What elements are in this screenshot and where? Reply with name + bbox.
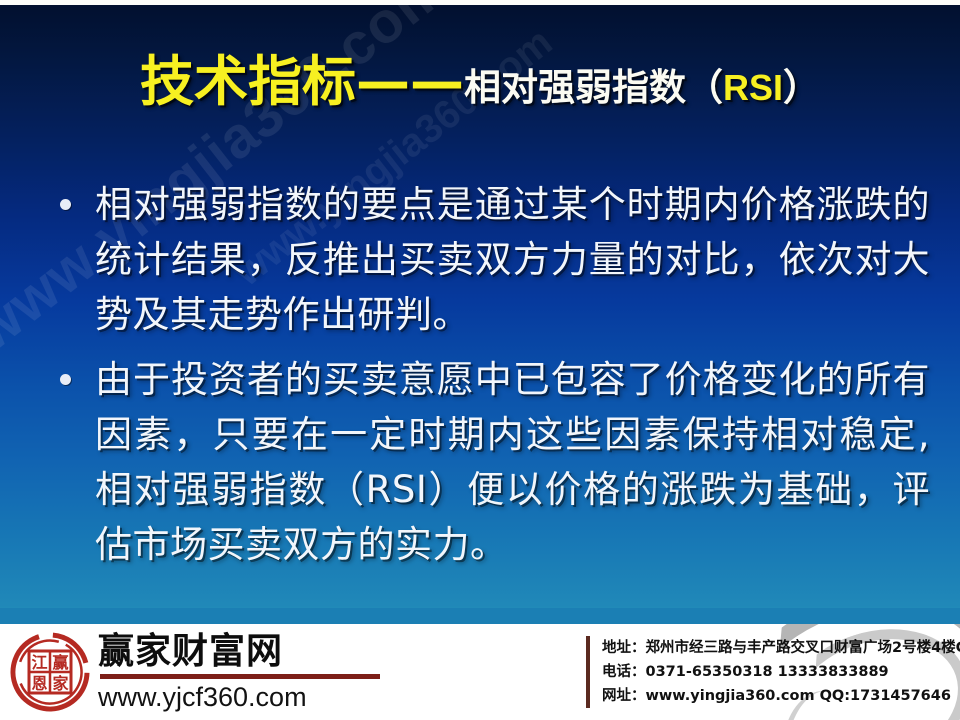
page-title-sub-before: 相对强弱指数（ [464,66,723,109]
page-title: 技术指标——相对强弱指数（RSI） [0,55,960,109]
contact-phone-line: 电话：0371-65350318 13333833889 [602,660,960,684]
company-seal-logo: 江 赢 恩 家 [8,630,92,714]
seal-char-top-left: 江 [31,653,47,672]
bullet-list: 相对强弱指数的要点是通过某个时期内价格涨跌的统计结果，反推出买卖双方力量的对比，… [40,177,930,582]
brand-block: 赢家财富网 www.yjcf360.com [98,632,380,712]
contact-block: 地址：郑州市经三路与丰产路交叉口财富广场2号楼4楼C户 电话：0371-6535… [602,636,960,708]
bullet-dot-icon [60,199,71,210]
bullet-dot-icon [60,374,71,385]
contact-phone-label: 电话： [602,664,646,680]
list-item-text: 相对强弱指数的要点是通过某个时期内价格涨跌的统计结果，反推出买卖双方力量的对比，… [95,183,930,336]
list-item-text: 由于投资者的买卖意愿中已包容了价格变化的所有因素，只要在一定时期内这些因素保持相… [95,358,930,566]
footer: 江 赢 恩 家 赢家财富网 www.yjcf360.com 地址：郑州市经三路与… [0,624,960,720]
contact-phone-value: 0371-65350318 13333833889 [646,664,889,680]
footer-vertical-divider [586,636,590,708]
slide-canvas: www.yingjia360.com www.yingjia360.com 技术… [0,5,960,623]
brand-divider [100,674,380,679]
slide-root: www.yingjia360.com www.yingjia360.com 技术… [0,0,960,720]
footer-accent-bar [0,608,960,624]
brand-url[interactable]: www.yjcf360.com [98,682,380,712]
list-item: 由于投资者的买卖意愿中已包容了价格变化的所有因素，只要在一定时期内这些因素保持相… [40,352,930,572]
contact-website-value[interactable]: www.yingjia360.com QQ:1731457646 [646,688,951,704]
seal-char-bottom-left: 恩 [31,674,47,693]
contact-address-label: 地址： [602,640,646,656]
brand-name: 赢家财富网 [98,632,380,672]
contact-website-line: 网址：www.yingjia360.com QQ:1731457646 [602,684,960,708]
page-title-main: 技术指标—— [140,50,464,113]
seal-char-top-right: 赢 [52,653,68,672]
contact-website-label: 网址： [602,688,646,704]
page-title-rsi: RSI [723,67,783,108]
page-title-sub-after: ） [783,66,820,109]
contact-address-line: 地址：郑州市经三路与丰产路交叉口财富广场2号楼4楼C户 [602,636,960,660]
seal-char-bottom-right: 家 [52,674,69,693]
list-item: 相对强弱指数的要点是通过某个时期内价格涨跌的统计结果，反推出买卖双方力量的对比，… [40,177,930,342]
contact-address-value: 郑州市经三路与丰产路交叉口财富广场2号楼4楼C户 [646,640,960,656]
